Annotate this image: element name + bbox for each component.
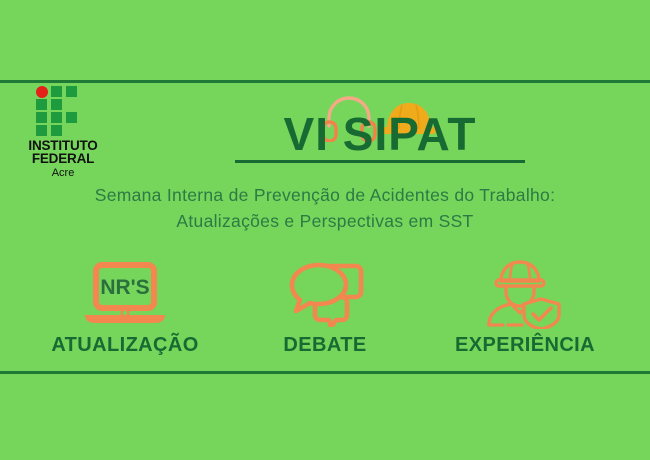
if-logo-cell	[66, 86, 77, 97]
feature-label-experiencia: EXPERIÊNCIA	[435, 333, 615, 357]
feature-icon-wrap: NR'S	[35, 259, 215, 329]
feature-atualizacao: NR'S ATUALIZAÇÃO	[35, 259, 215, 357]
if-logo-cell	[51, 112, 62, 123]
feature-experiencia: EXPERIÊNCIA	[435, 259, 615, 357]
poster-canvas: INSTITUTO FEDERAL Acre VI SIPAT Semana I…	[0, 0, 650, 460]
if-logo-cell	[36, 99, 47, 110]
subtitle-line-2: Atualizações e Perspectivas em SST	[40, 208, 610, 234]
if-logo-mark	[36, 86, 90, 136]
page-title: VI SIPAT	[140, 109, 620, 159]
title-area: VI SIPAT	[140, 92, 620, 172]
if-logo-cell	[36, 112, 47, 123]
institution-logo: INSTITUTO FEDERAL Acre	[8, 86, 118, 180]
divider-top	[0, 80, 650, 83]
subtitle-line-1: Semana Interna de Prevenção de Acidentes…	[40, 182, 610, 208]
if-logo-red-dot	[36, 86, 48, 98]
feature-icon-wrap	[435, 259, 615, 329]
feature-icon-wrap	[235, 259, 415, 329]
logo-line-federal: FEDERAL	[8, 152, 118, 165]
feature-label-atualizacao: ATUALIZAÇÃO	[35, 333, 215, 357]
laptop-icon: NR'S	[81, 261, 169, 327]
page-subtitle: Semana Interna de Prevenção de Acidentes…	[40, 182, 610, 234]
if-logo-cell	[51, 125, 62, 136]
logo-line-acre: Acre	[8, 166, 118, 180]
divider-bottom	[0, 371, 650, 374]
feature-row: NR'S ATUALIZAÇÃO DEBATE	[35, 252, 615, 357]
speech-bubbles-icon	[284, 261, 366, 327]
if-logo-cell	[51, 86, 62, 97]
feature-label-debate: DEBATE	[235, 333, 415, 357]
if-logo-cell	[51, 99, 62, 110]
if-logo-cell	[66, 112, 77, 123]
feature-debate: DEBATE	[235, 259, 415, 357]
laptop-screen-text: NR'S	[100, 276, 149, 299]
worker-shield-icon	[483, 259, 567, 329]
title-underline	[235, 160, 525, 163]
if-logo-cell	[36, 125, 47, 136]
